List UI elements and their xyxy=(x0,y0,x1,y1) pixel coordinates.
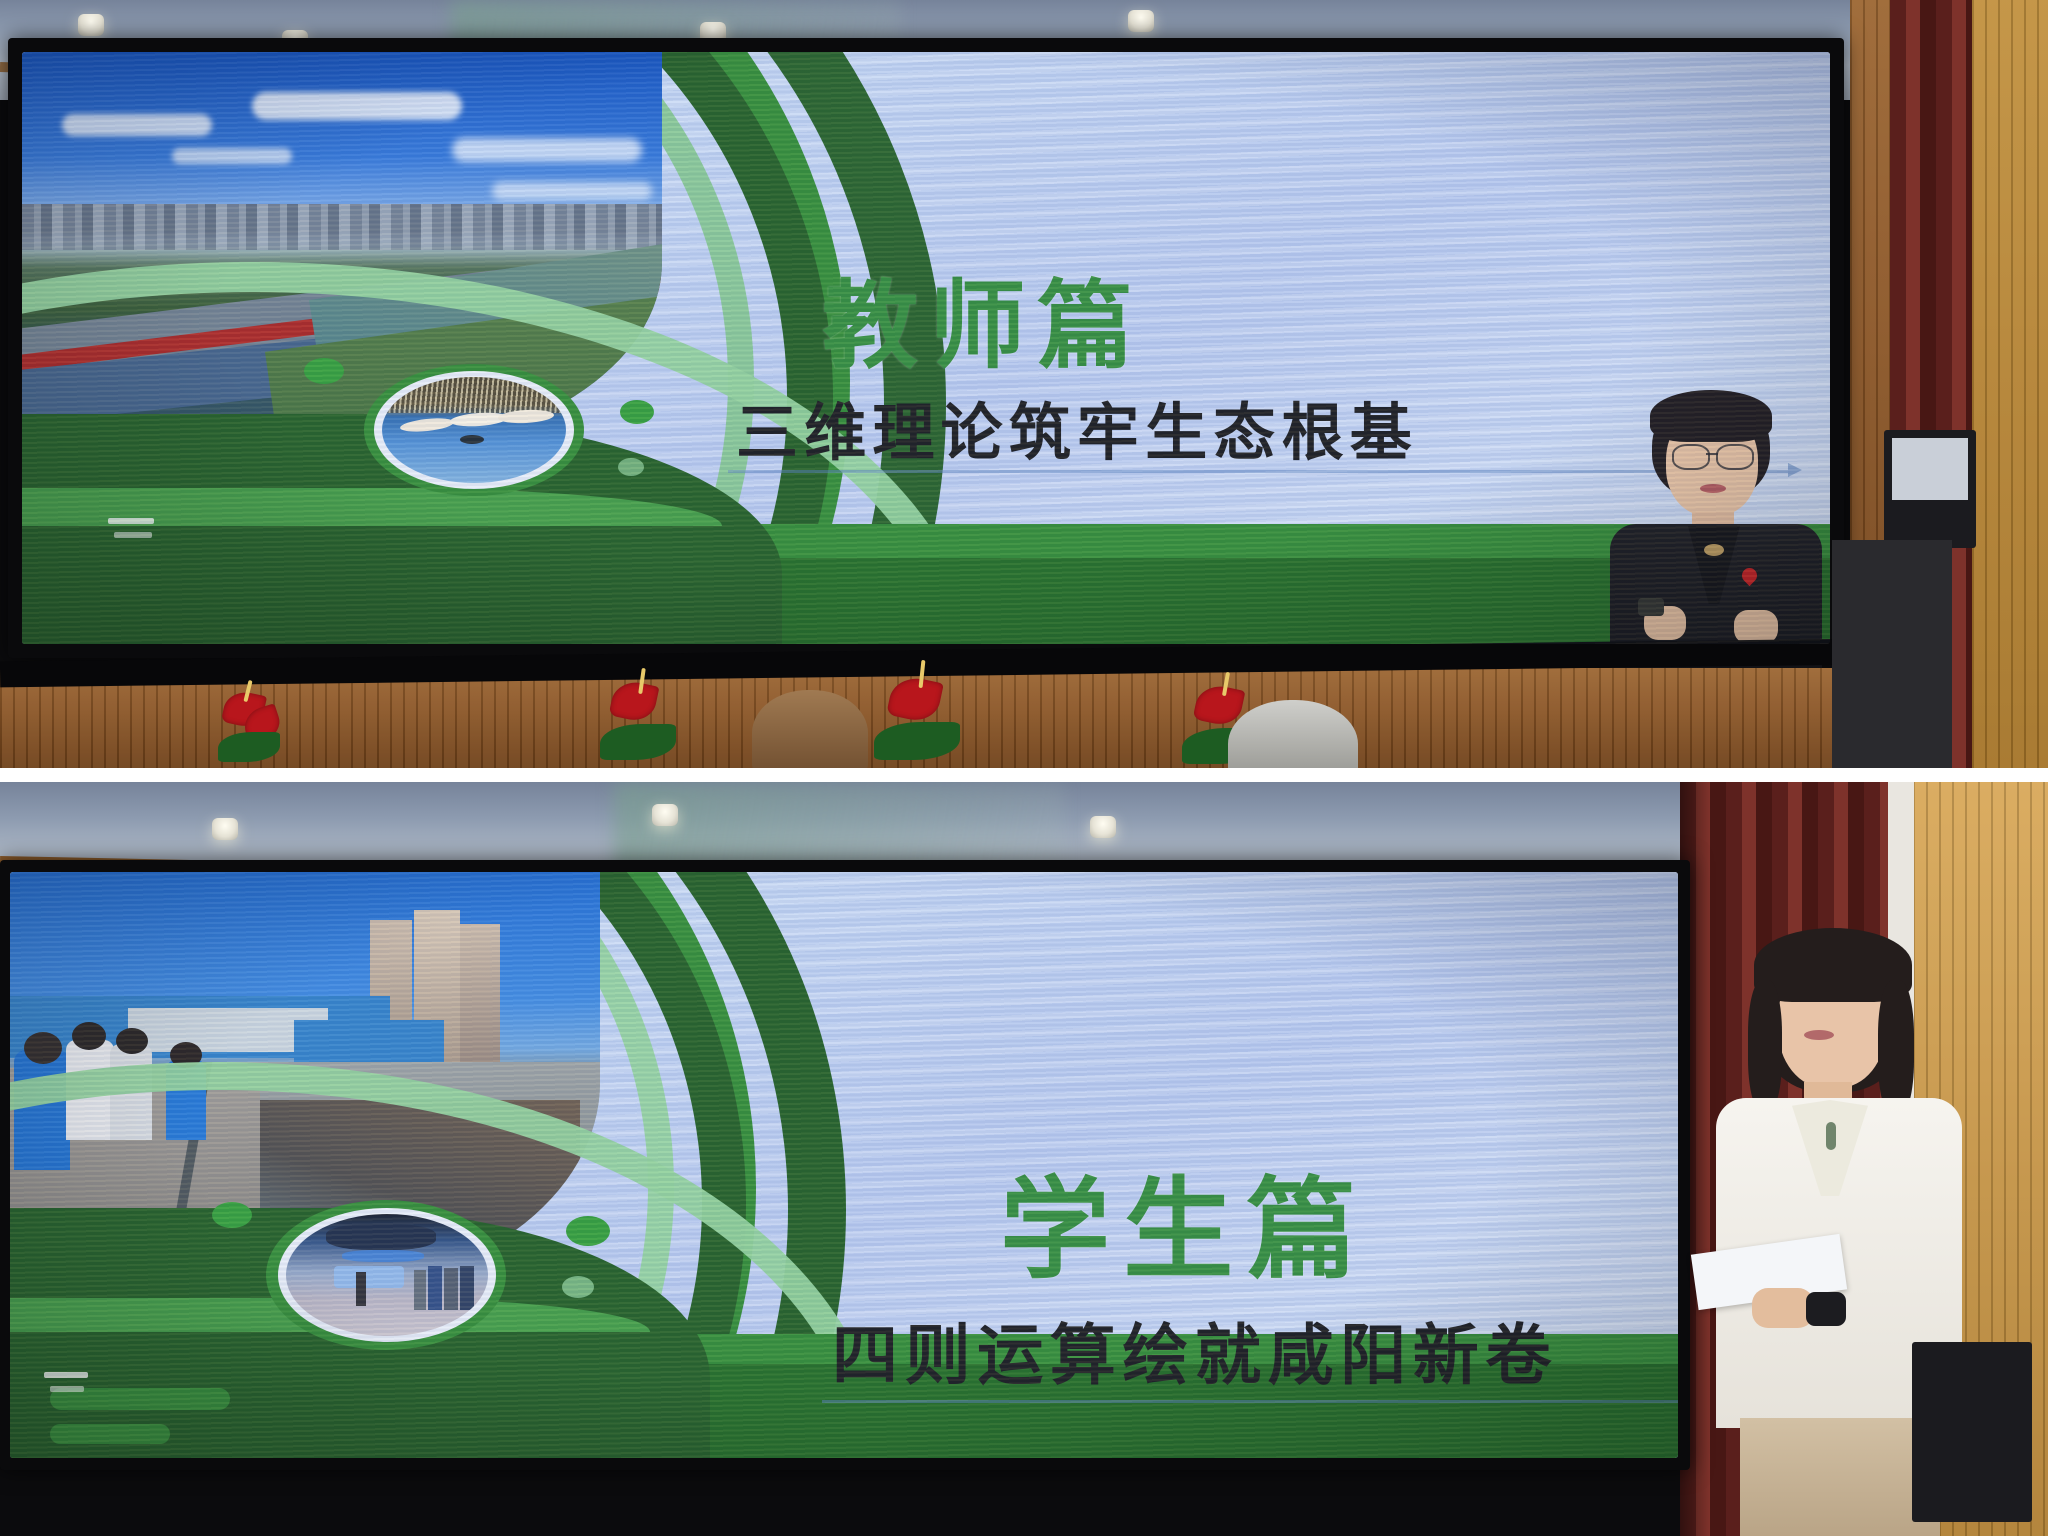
audience-head xyxy=(752,690,868,768)
student-head xyxy=(116,1028,148,1054)
panel-student-session: 学生篇 四则运算绘就咸阳新卷 Lenovo xyxy=(0,782,2048,1536)
slide-oval-photo-exhibition-hall xyxy=(286,1214,488,1336)
visitor xyxy=(460,1266,474,1310)
decor-dot-soft xyxy=(618,458,644,476)
mouth xyxy=(1804,1030,1834,1040)
presenter-remote xyxy=(1638,598,1664,616)
window-frame xyxy=(1972,0,2048,768)
ceiling-downlight-icon xyxy=(212,818,238,840)
decor-dot xyxy=(566,1216,610,1246)
cloud xyxy=(452,138,642,162)
decor-white-mark xyxy=(50,1386,84,1392)
flower-arrangement xyxy=(586,672,706,768)
glasses-right-lens xyxy=(1716,444,1754,470)
decor-dot xyxy=(620,400,654,424)
decor-dot xyxy=(304,358,344,384)
ceiling-display xyxy=(326,1224,436,1250)
slide-subtitle: 四则运算绘就咸阳新卷 xyxy=(832,1302,1558,1398)
hair-side-right xyxy=(1878,980,1914,1116)
cloud xyxy=(62,114,212,136)
composite-photo-page: 教师篇 三维理论筑牢生态根基 xyxy=(0,0,2048,1536)
panel-teacher-session: 教师篇 三维理论筑牢生态根基 xyxy=(0,0,2048,768)
flower-arrangement xyxy=(862,666,992,766)
necklace-pendant xyxy=(1826,1122,1836,1150)
hair-side-left xyxy=(1748,980,1782,1112)
blue-light xyxy=(342,1250,424,1262)
rear-monitor-screen xyxy=(1892,438,1968,500)
plant-building xyxy=(294,1020,444,1062)
ceiling-downlight-icon xyxy=(78,14,104,36)
glasses-bridge xyxy=(1706,453,1718,455)
decor-pill xyxy=(50,1424,170,1444)
podium xyxy=(1832,540,1952,768)
ceiling-downlight-icon xyxy=(1090,816,1116,838)
slide-title: 学生篇 xyxy=(1000,1140,1370,1300)
glasses-left-lens xyxy=(1672,444,1710,470)
guide-person xyxy=(356,1272,366,1306)
visitor xyxy=(444,1268,458,1310)
necklace xyxy=(1704,544,1724,556)
smartwatch xyxy=(1806,1292,1846,1326)
rear-equipment xyxy=(1912,1342,2032,1522)
ceiling-downlight-icon xyxy=(1128,10,1154,32)
hair-fringe xyxy=(1650,390,1772,442)
cloud xyxy=(252,92,462,120)
decor-white-mark xyxy=(44,1372,88,1378)
cloud xyxy=(492,182,652,200)
led-screen: 学生篇 四则运算绘就咸阳新卷 xyxy=(10,872,1678,1458)
visitor xyxy=(428,1266,442,1310)
exhibit-panel xyxy=(334,1266,404,1288)
decor-dot-soft xyxy=(562,1276,594,1298)
flower-arrangement xyxy=(200,686,310,768)
decor-dot xyxy=(212,1202,252,1228)
slide-title: 教师篇 xyxy=(822,248,1145,387)
ceiling-downlight-icon xyxy=(652,804,678,826)
decor-white-mark xyxy=(114,532,152,538)
mouth xyxy=(1700,484,1726,493)
duck xyxy=(460,435,484,444)
slide-subtitle: 三维理论筑牢生态根基 xyxy=(736,382,1418,472)
panel-divider xyxy=(0,768,2048,782)
hand-holding-papers xyxy=(1752,1288,1814,1328)
decor-white-mark xyxy=(108,518,154,524)
slide-oval-photo-waterbirds xyxy=(382,377,566,483)
apartment-tower xyxy=(460,924,500,1070)
student-head xyxy=(72,1022,106,1050)
trousers xyxy=(1740,1418,1940,1536)
subtitle-underline xyxy=(822,1400,1678,1403)
student-head xyxy=(24,1032,62,1064)
visitor xyxy=(414,1270,426,1310)
cloud xyxy=(172,148,292,164)
led-screen: 教师篇 三维理论筑牢生态根基 xyxy=(22,52,1830,644)
reed-bed xyxy=(382,377,566,413)
